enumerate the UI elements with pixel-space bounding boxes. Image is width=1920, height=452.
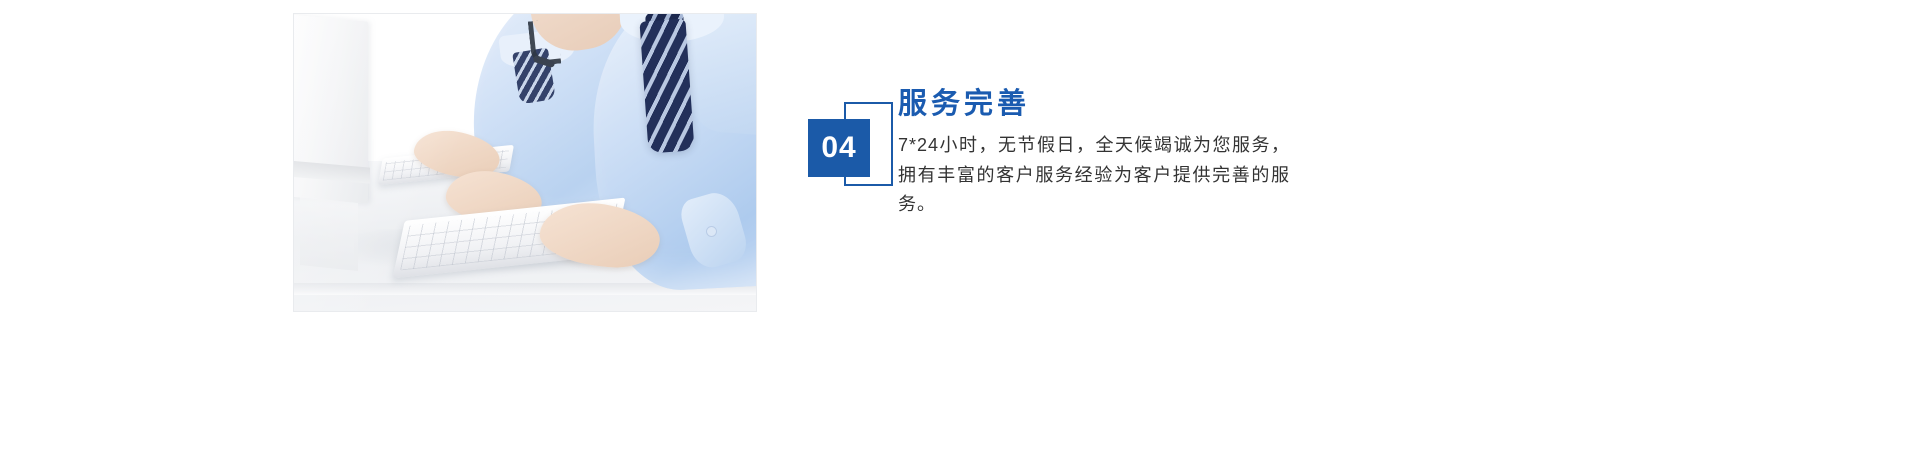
feature-text-body: 服务完善 7*24小时，无节假日，全天候竭诚为您服务，拥有丰富的客户服务经验为客… [898, 88, 1328, 219]
feature-title: 服务完善 [898, 88, 1328, 121]
feature-content: 04 服务完善 7*24小时，无节假日，全天候竭诚为您服务，拥有丰富的客户服务经… [808, 88, 1568, 258]
person-front-necktie-icon [639, 19, 694, 154]
feature-index-badge: 04 [808, 102, 894, 192]
feature-description: 7*24小时，无节假日，全天候竭诚为您服务，拥有丰富的客户服务经验为客户提供完善… [898, 131, 1290, 218]
badge-filled-square: 04 [808, 119, 870, 177]
feature-photo-card [293, 13, 757, 312]
cuff-button-icon [706, 226, 717, 237]
monitor-foot [300, 197, 358, 271]
photo-image [294, 14, 756, 311]
badge-number-label: 04 [821, 133, 856, 163]
feature-section: 04 服务完善 7*24小时，无节假日，全天候竭诚为您服务，拥有丰富的客户服务经… [0, 0, 1920, 452]
